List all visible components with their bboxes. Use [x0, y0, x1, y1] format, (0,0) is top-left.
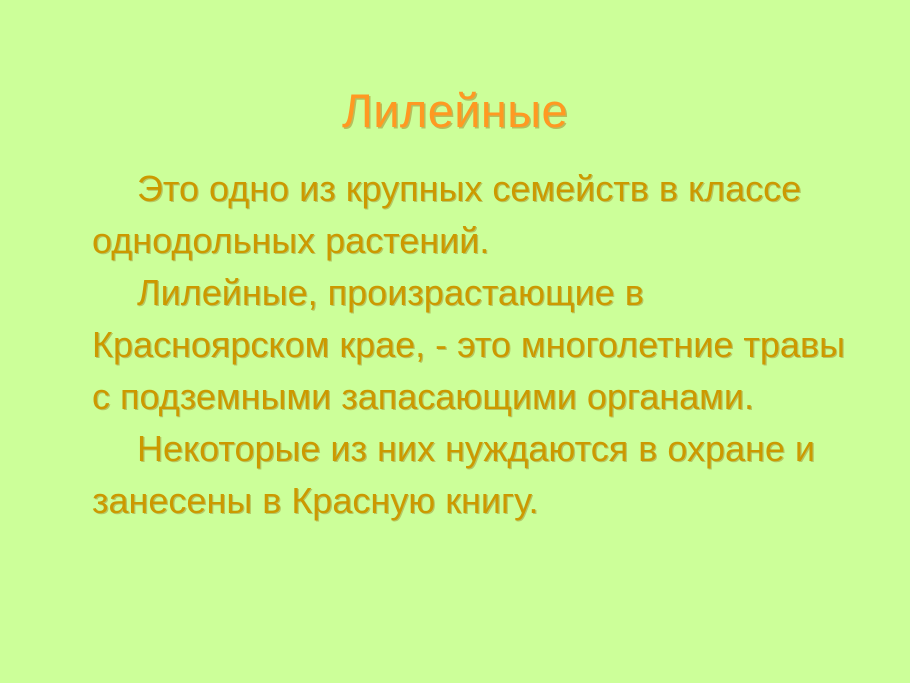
- body-paragraph-1: Это одно из крупных семейств в классе од…: [92, 163, 852, 267]
- presentation-slide: Лилейные Это одно из крупных семейств в …: [0, 0, 910, 683]
- slide-title: Лилейные: [0, 83, 910, 139]
- body-paragraph-3: Некоторые из них нуждаются в охране и за…: [92, 423, 852, 527]
- slide-body-text: Это одно из крупных семейств в классе од…: [92, 163, 852, 527]
- body-paragraph-2: Лилейные, произрастающие в Красноярском …: [92, 267, 852, 423]
